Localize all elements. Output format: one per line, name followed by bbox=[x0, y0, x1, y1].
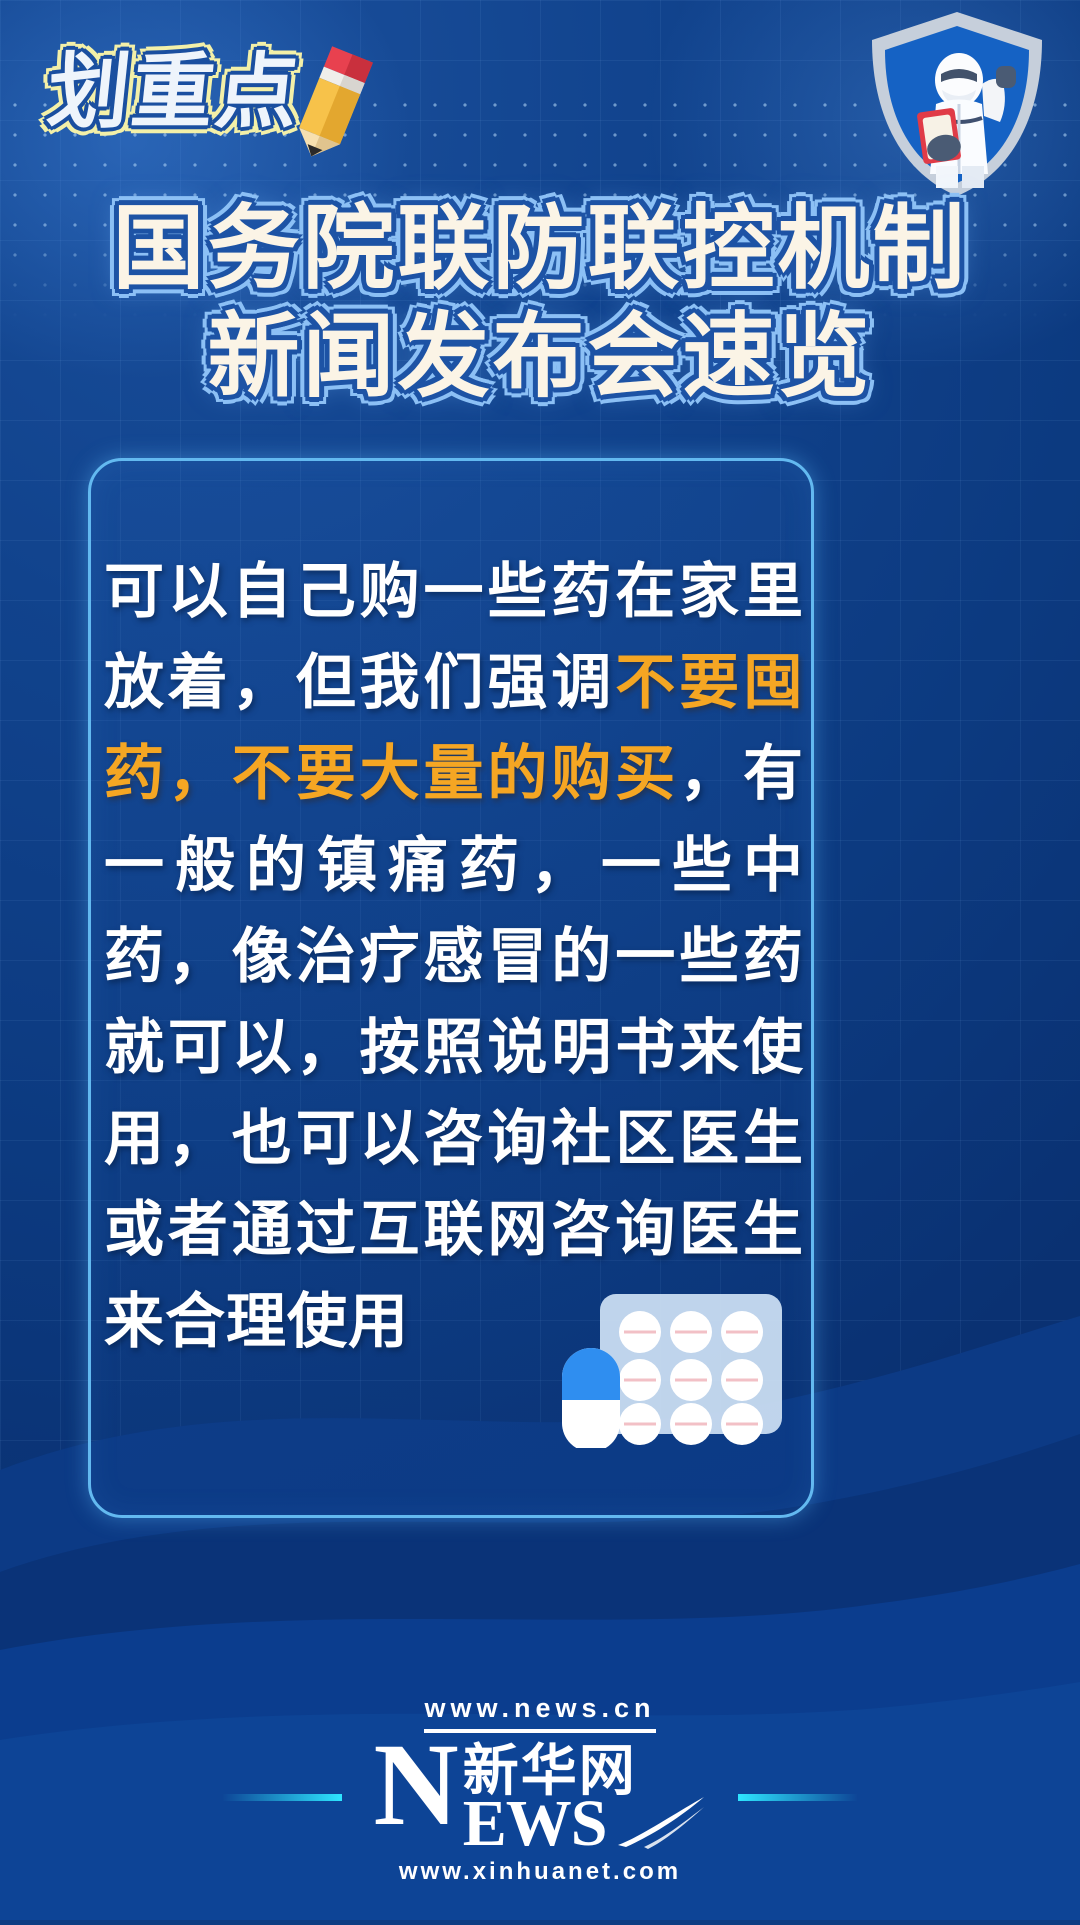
footer-rule-left bbox=[222, 1794, 342, 1801]
title-line-2: 新闻发布会速览 bbox=[0, 304, 1080, 412]
xinhua-logo: N 新华网 EWS bbox=[0, 1737, 1080, 1854]
body-segment-plain-2: ，有一般的镇痛药，一些中药，像治疗感冒的一些药就可以，按照说明书来使用，也可以咨… bbox=[104, 740, 804, 1354]
title-line-1: 国务院联防联控机制 bbox=[0, 196, 1080, 304]
shield-medical-worker-badge bbox=[862, 6, 1052, 202]
footer-url-bottom: www.xinhuanet.com bbox=[0, 1858, 1080, 1886]
logo-swoosh-icon bbox=[614, 1793, 706, 1854]
blister-pack-icon bbox=[600, 1294, 782, 1445]
logo-letters-ews: EWS bbox=[463, 1794, 607, 1853]
capsule-pill-icon bbox=[562, 1348, 620, 1448]
content-body-text: 可以自己购一些药在家里放着，但我们强调不要囤药，不要大量的购买，有一般的镇痛药，… bbox=[104, 546, 804, 1367]
footer-url-top: www.news.cn bbox=[424, 1694, 655, 1733]
footer-branding: www.news.cn N 新华网 EWS www.xinhuanet.com bbox=[0, 1694, 1080, 1886]
logo-letter-n: N bbox=[374, 1737, 457, 1834]
medicine-illustration bbox=[548, 1288, 848, 1448]
page-title: 国务院联防联控机制 新闻发布会速览 bbox=[0, 196, 1080, 411]
poster-header: 划重点 bbox=[0, 0, 1080, 200]
footer-url-top-wrap: www.news.cn bbox=[0, 1694, 1080, 1733]
footer-rule-right bbox=[738, 1794, 858, 1801]
